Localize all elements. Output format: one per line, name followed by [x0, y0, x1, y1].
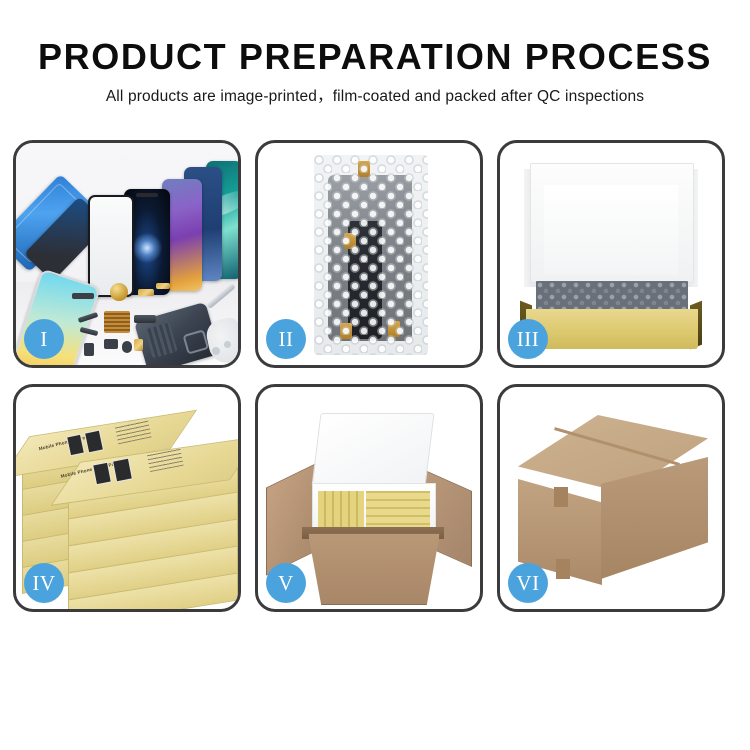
panel-bubble-wrapped[interactable]: II: [255, 140, 483, 368]
carton-tape-lower: [556, 559, 570, 579]
panel-product-components[interactable]: I: [13, 140, 241, 368]
step-badge: VI: [508, 563, 548, 603]
panel-inner-box-foam[interactable]: III: [497, 140, 725, 368]
step-badge: IV: [24, 563, 64, 603]
kraft-boxes-right-group: [366, 491, 430, 531]
tempered-glass-panel: [88, 195, 134, 297]
foam-lid-inner-face: [544, 185, 678, 275]
step-badge: V: [266, 563, 306, 603]
step-badge: II: [266, 319, 306, 359]
kraft-box-base: [526, 309, 698, 349]
chip-part: [104, 339, 118, 349]
chip-part: [72, 293, 94, 299]
gold-connector-part: [138, 289, 154, 296]
gray-foam-padding: [536, 281, 688, 311]
screw-part: [212, 347, 220, 355]
button-part: [122, 341, 132, 353]
step-badge: I: [24, 319, 64, 359]
step-badge: III: [508, 319, 548, 359]
carton-tape-upper: [554, 487, 568, 507]
screw-part: [224, 341, 231, 348]
carton-front-face: [308, 533, 440, 605]
page-header: PRODUCT PREPARATION PROCESS All products…: [0, 0, 750, 107]
flex-cable-part: [134, 315, 156, 323]
foam-box-lid-open: [311, 413, 434, 487]
page-subtitle: All products are image-printed，film-coat…: [0, 87, 750, 107]
vibration-motor-part: [110, 283, 128, 301]
bubble-wrap-bag: [314, 155, 428, 355]
speaker-mesh-part: [104, 311, 130, 333]
panel-stacked-boxes[interactable]: Mobile Phone Spare Parts Mobile Phone Sp…: [13, 384, 241, 612]
gold-connector-part: [156, 283, 170, 289]
process-step-grid: I II III: [13, 140, 737, 612]
bubble-texture: [314, 155, 428, 355]
page-title: PRODUCT PREPARATION PROCESS: [0, 36, 750, 78]
panel-sealed-carton[interactable]: VI: [497, 384, 725, 612]
sim-tray-part: [84, 343, 94, 356]
kraft-boxes-left-group: [318, 491, 364, 531]
battery-connector-part: [134, 339, 143, 351]
panel-carton-packing[interactable]: V: [255, 384, 483, 612]
